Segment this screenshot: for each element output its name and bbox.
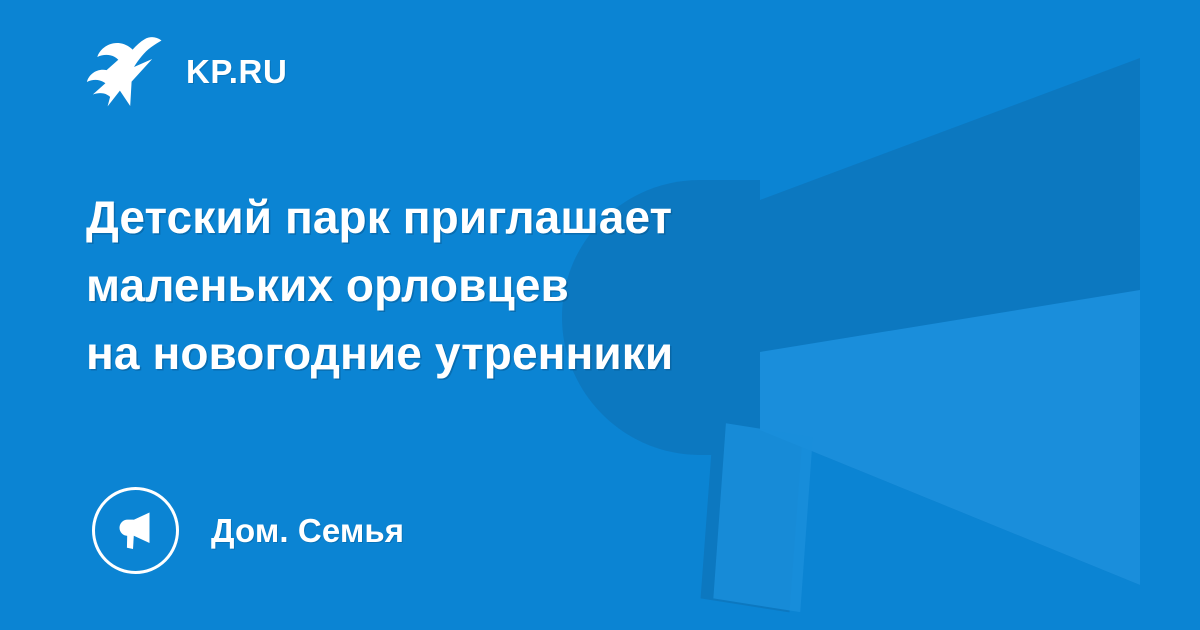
rubric[interactable]: Дом. Семья (92, 486, 404, 574)
headline-line-3: на новогодние утренники (86, 319, 1086, 387)
rubric-badge (92, 487, 179, 574)
headline-line-2: маленьких орловцев (86, 251, 1086, 319)
page-title: Детский парк приглашает маленьких орловц… (86, 183, 1086, 387)
brand-logo[interactable]: KP.RU (86, 34, 287, 108)
headline-line-1: Детский парк приглашает (86, 183, 1086, 251)
rubric-label: Дом. Семья (211, 514, 404, 547)
brand-name: KP.RU (186, 55, 287, 88)
social-share-card: KP.RU Детский парк приглашает маленьких … (0, 0, 1200, 630)
swallow-bird-icon (86, 34, 164, 108)
megaphone-icon (113, 507, 159, 553)
